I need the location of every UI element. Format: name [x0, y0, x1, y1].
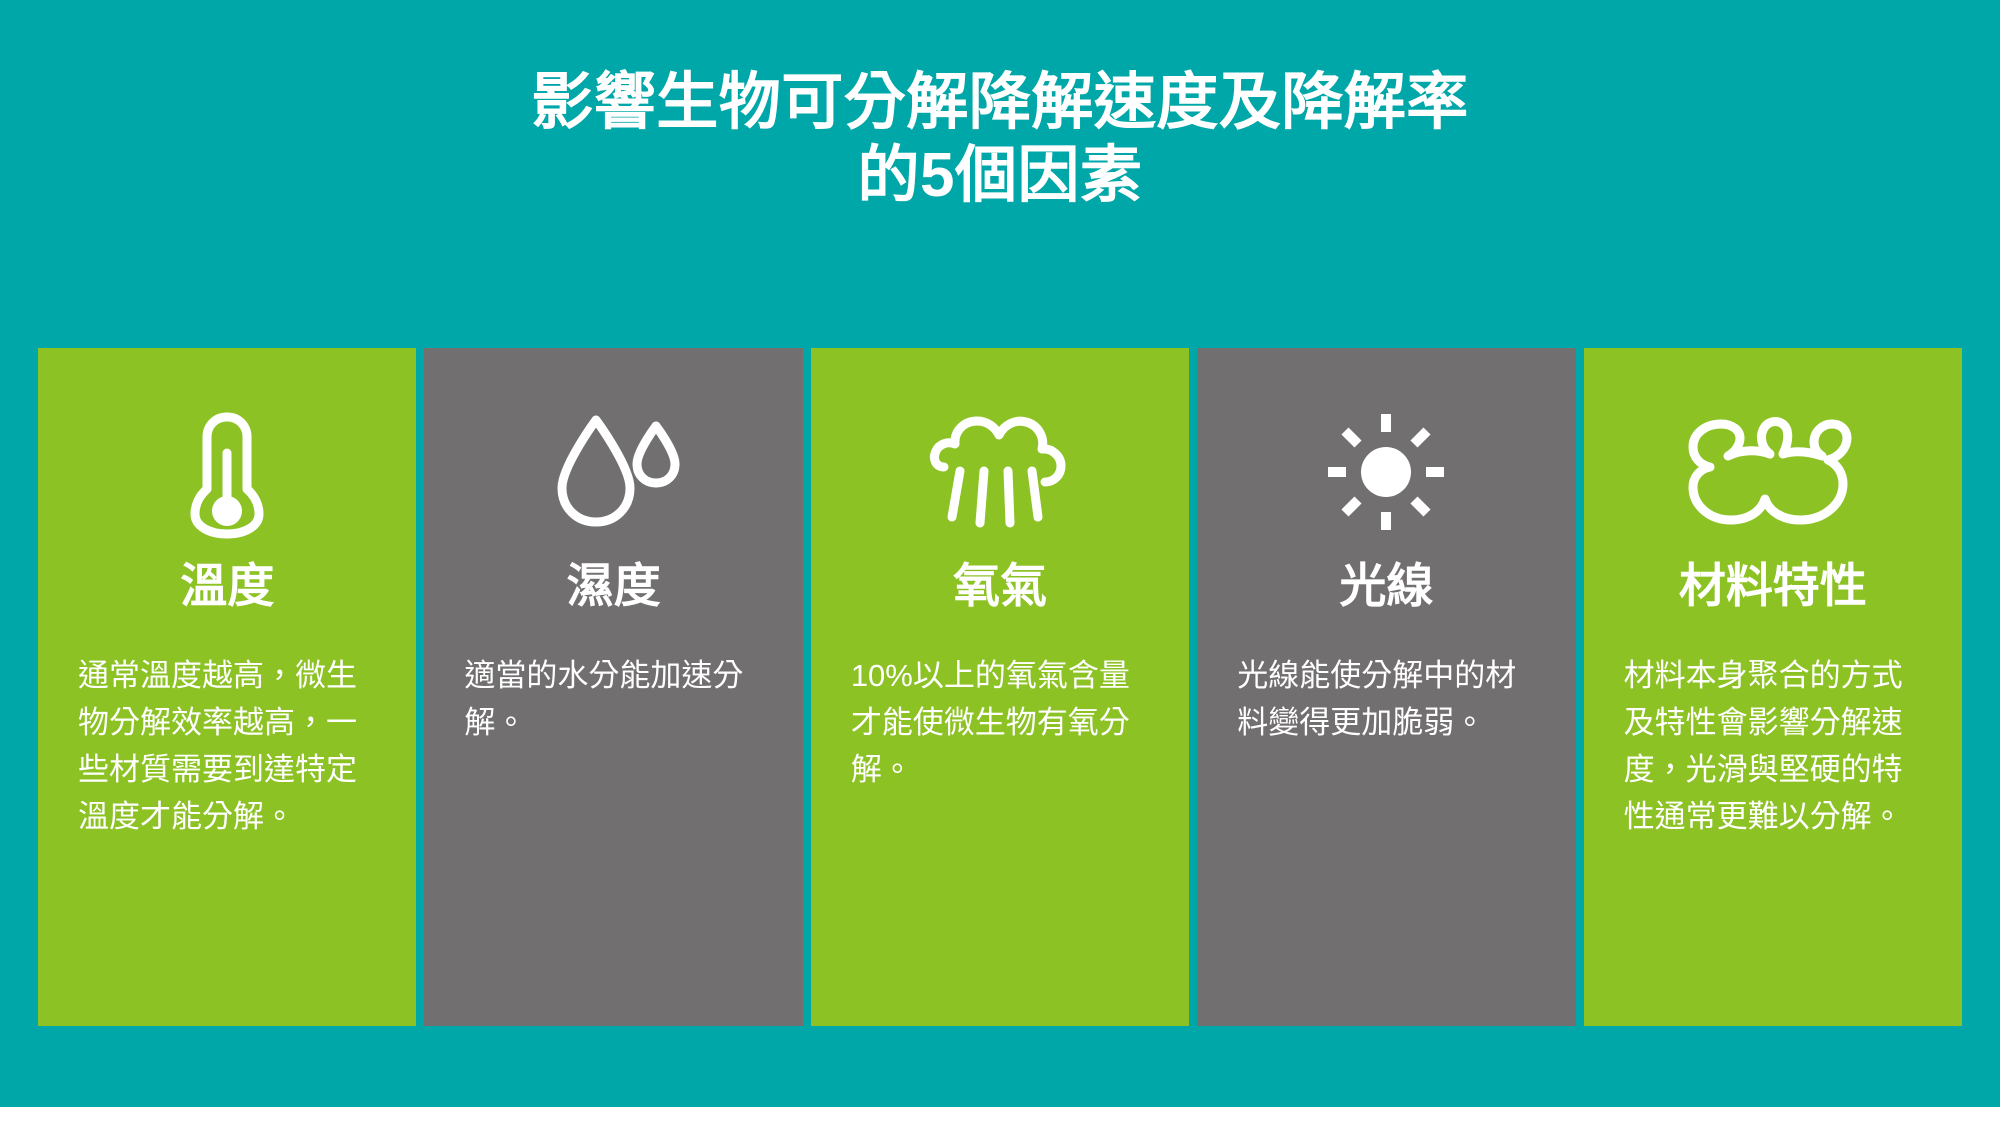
card-description: 光線能使分解中的材料變得更加脆弱。 — [1213, 652, 1559, 746]
factor-card-oxygen[interactable]: 氧氣 10%以上的氧氣含量才能使微生物有氧分解。 — [811, 348, 1189, 1026]
page-title: 影響生物可分解降解速度及降解率 的5個因素 — [0, 66, 2000, 212]
card-description: 通常溫度越高，微生物分解效率越高，一些材質需要到達特定溫度才能分解。 — [54, 652, 400, 840]
title-line-2: 的5個因素 — [0, 139, 2000, 212]
bottom-white-strip — [0, 1107, 2000, 1125]
cloud-air-icon — [827, 406, 1173, 538]
factor-card-humidity[interactable]: 濕度 適當的水分能加速分解。 — [424, 348, 802, 1026]
thermometer-icon — [54, 406, 400, 538]
card-description: 適當的水分能加速分解。 — [440, 652, 786, 746]
card-title: 光線 — [1339, 560, 1433, 612]
factor-card-material-properties[interactable]: 材料特性 材料本身聚合的方式及特性會影響分解速度，光滑與堅硬的特性通常更難以分解… — [1584, 348, 1962, 1026]
water-droplet-icon — [440, 406, 786, 538]
card-title: 濕度 — [567, 560, 661, 612]
sun-icon — [1213, 406, 1559, 538]
card-title: 材料特性 — [1679, 560, 1867, 612]
puzzle-piece-icon — [1600, 406, 1946, 538]
card-title: 溫度 — [180, 560, 274, 612]
card-title: 氧氣 — [953, 560, 1047, 612]
factor-card-temperature[interactable]: 溫度 通常溫度越高，微生物分解效率越高，一些材質需要到達特定溫度才能分解。 — [38, 348, 416, 1026]
card-description: 10%以上的氧氣含量才能使微生物有氧分解。 — [827, 652, 1173, 793]
factor-card-light[interactable]: 光線 光線能使分解中的材料變得更加脆弱。 — [1197, 348, 1575, 1026]
factor-card-row: 溫度 通常溫度越高，微生物分解效率越高，一些材質需要到達特定溫度才能分解。 濕度… — [38, 348, 1962, 1026]
title-line-1: 影響生物可分解降解速度及降解率 — [0, 66, 2000, 139]
infographic-slide: 影響生物可分解降解速度及降解率 的5個因素 溫度 通常溫度越高，微生物分解效率越… — [0, 0, 2000, 1125]
card-description: 材料本身聚合的方式及特性會影響分解速度，光滑與堅硬的特性通常更難以分解。 — [1600, 652, 1946, 840]
